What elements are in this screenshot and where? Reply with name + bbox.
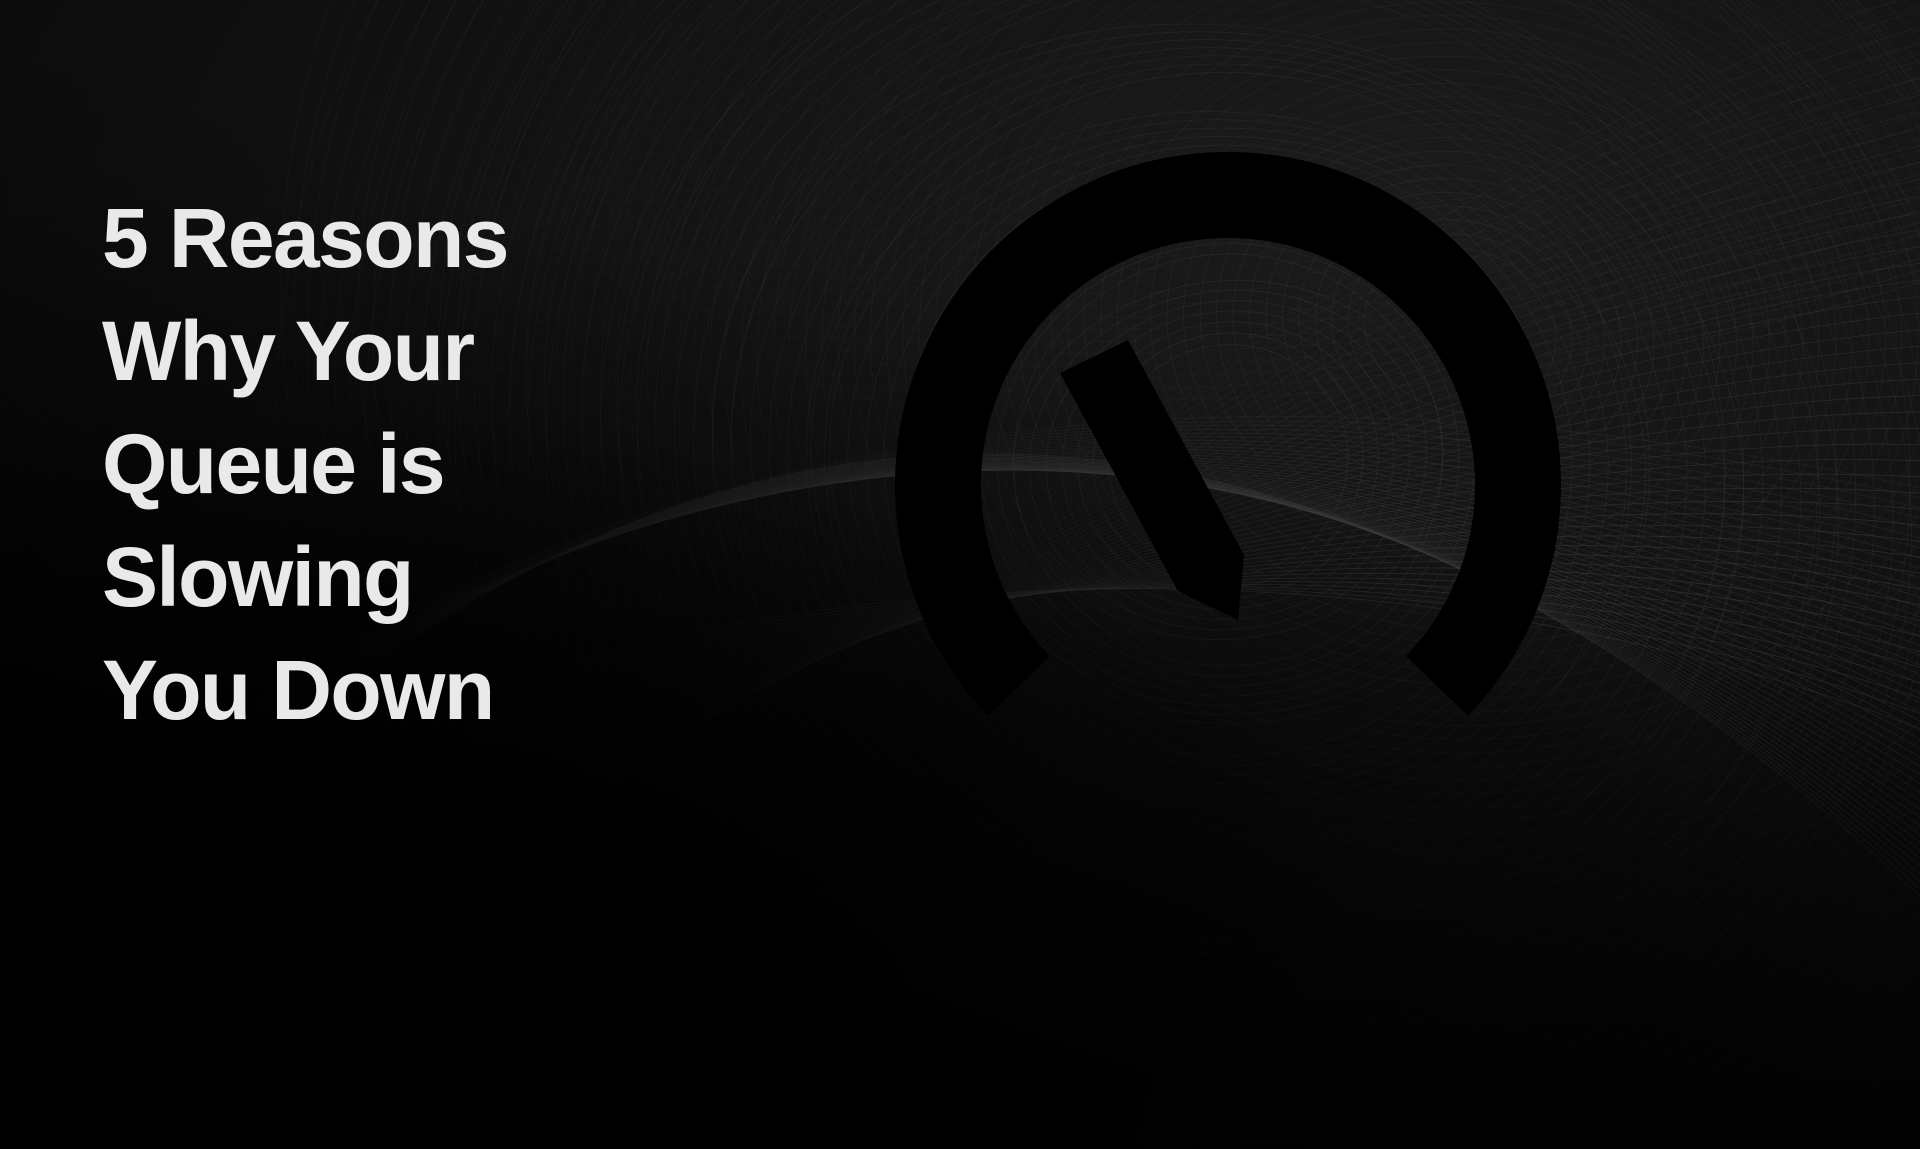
page-title: 5 Reasons Why Your Queue is Slowing You …: [102, 182, 742, 747]
headline-line-5: You Down: [102, 634, 742, 747]
headline-line-3: Queue is: [102, 408, 742, 521]
headline-line-2: Why Your: [102, 295, 742, 408]
headline-line-4: Slowing: [102, 521, 742, 634]
hero-banner: 5 Reasons Why Your Queue is Slowing You …: [0, 0, 1920, 1149]
headline-line-1: 5 Reasons: [102, 182, 742, 295]
